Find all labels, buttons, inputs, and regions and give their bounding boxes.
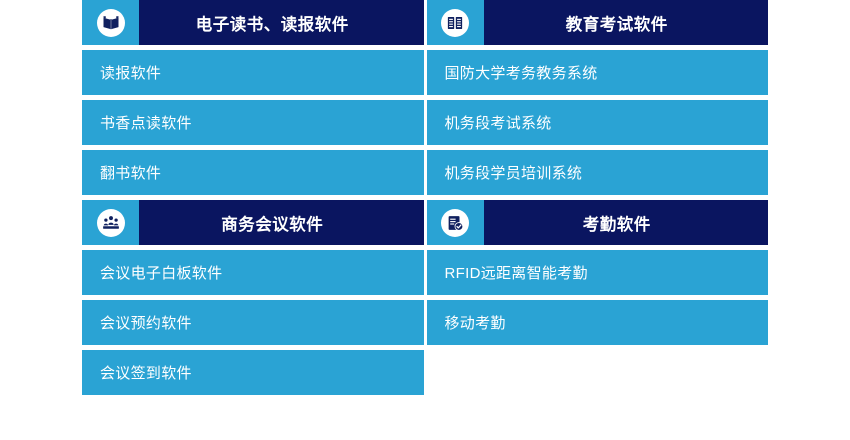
category-group-attendance: 考勤软件 RFID远距离智能考勤 移动考勤	[427, 200, 769, 345]
category-header-education-exam[interactable]: 教育考试软件	[427, 0, 769, 45]
right-column: 教育考试软件 国防大学考务教务系统 机务段考试系统 机务段学员培训系统	[427, 0, 769, 400]
list-item[interactable]: 会议电子白板软件	[82, 250, 424, 295]
list-item[interactable]: 读报软件	[82, 50, 424, 95]
category-icon-box	[427, 0, 484, 45]
list-item[interactable]: 翻书软件	[82, 150, 424, 195]
category-header-business-meeting[interactable]: 商务会议软件	[82, 200, 424, 245]
list-item[interactable]: 书香点读软件	[82, 100, 424, 145]
left-column: 电子读书、读报软件 读报软件 书香点读软件 翻书软件	[82, 0, 424, 400]
category-title: 考勤软件	[484, 200, 769, 245]
list-item[interactable]: 移动考勤	[427, 300, 769, 345]
conference-people-icon	[97, 209, 125, 237]
list-item[interactable]: 国防大学考务教务系统	[427, 50, 769, 95]
category-title: 电子读书、读报软件	[139, 0, 424, 45]
list-item[interactable]: 会议签到软件	[82, 350, 424, 395]
clipboard-check-icon	[441, 209, 469, 237]
software-category-board: 电子读书、读报软件 读报软件 书香点读软件 翻书软件	[82, 0, 768, 400]
category-header-attendance[interactable]: 考勤软件	[427, 200, 769, 245]
open-book-icon	[97, 9, 125, 37]
book-pages-icon	[441, 9, 469, 37]
category-icon-box	[82, 200, 139, 245]
category-group-ebook-reader: 电子读书、读报软件 读报软件 书香点读软件 翻书软件	[82, 0, 424, 195]
list-item[interactable]: RFID远距离智能考勤	[427, 250, 769, 295]
category-group-business-meeting: 商务会议软件 会议电子白板软件 会议预约软件 会议签到软件	[82, 200, 424, 395]
category-title: 教育考试软件	[484, 0, 769, 45]
list-item[interactable]: 会议预约软件	[82, 300, 424, 345]
category-group-education-exam: 教育考试软件 国防大学考务教务系统 机务段考试系统 机务段学员培训系统	[427, 0, 769, 195]
list-item[interactable]: 机务段学员培训系统	[427, 150, 769, 195]
list-item[interactable]: 机务段考试系统	[427, 100, 769, 145]
category-title: 商务会议软件	[139, 200, 424, 245]
category-icon-box	[427, 200, 484, 245]
category-header-ebook-reader[interactable]: 电子读书、读报软件	[82, 0, 424, 45]
category-icon-box	[82, 0, 139, 45]
